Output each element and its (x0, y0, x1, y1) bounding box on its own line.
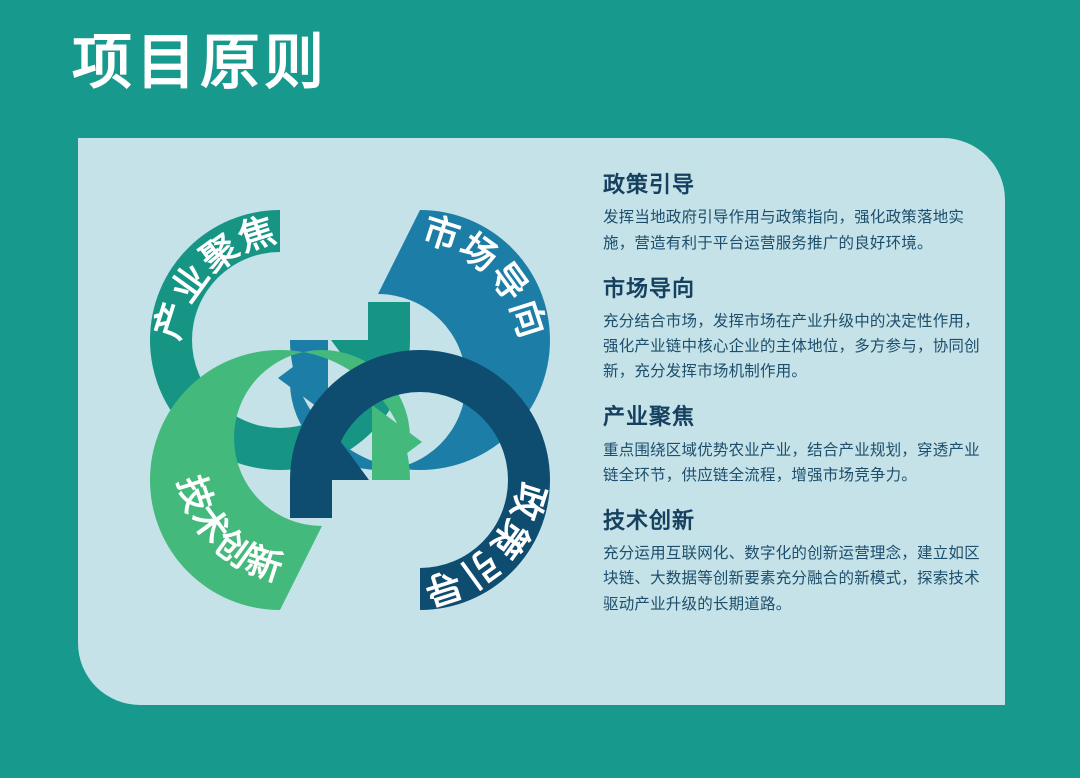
principle-title: 产业聚焦 (603, 404, 993, 430)
principle-body: 重点围绕区域优势农业产业，结合产业规划，穿透产业链全环节，供应链全流程，增强市场… (603, 438, 993, 488)
principle-block-policy-guidance: 政策引导 发挥当地政府引导作用与政策指向，强化政策落地实施，营造有利于平台运营服… (603, 172, 993, 256)
principle-title: 政策引导 (603, 172, 993, 198)
principle-block-industry-focus: 产业聚焦 重点围绕区域优势农业产业，结合产业规划，穿透产业链全环节，供应链全流程… (603, 404, 993, 488)
principles-description-list: 政策引导 发挥当地政府引导作用与政策指向，强化政策落地实施，营造有利于平台运营服… (603, 172, 993, 617)
page-title: 项目原则 (72, 30, 328, 96)
principle-body: 充分结合市场，发挥市场在产业升级中的决定性作用，强化产业链中核心企业的主体地位，… (603, 309, 993, 384)
principle-block-tech-innovation: 技术创新 充分运用互联网化、数字化的创新运营理念，建立如区块链、大数据等创新要素… (603, 508, 993, 617)
principle-body: 充分运用互联网化、数字化的创新运营理念，建立如区块链、大数据等创新要素充分融合的… (603, 541, 993, 616)
principle-title: 技术创新 (603, 508, 993, 534)
principle-block-market-oriented: 市场导向 充分结合市场，发挥市场在产业升级中的决定性作用，强化产业链中核心企业的… (603, 276, 993, 385)
principle-title: 市场导向 (603, 276, 993, 302)
policy-guidance-label: 政策引导 (418, 478, 553, 613)
principle-body: 发挥当地政府引导作用与政策指向，强化政策落地实施，营造有利于平台运营服务推广的良… (603, 205, 993, 255)
principles-cycle-diagram: 产业聚焦 市场导向 技术创新 政策引导 (130, 190, 570, 630)
